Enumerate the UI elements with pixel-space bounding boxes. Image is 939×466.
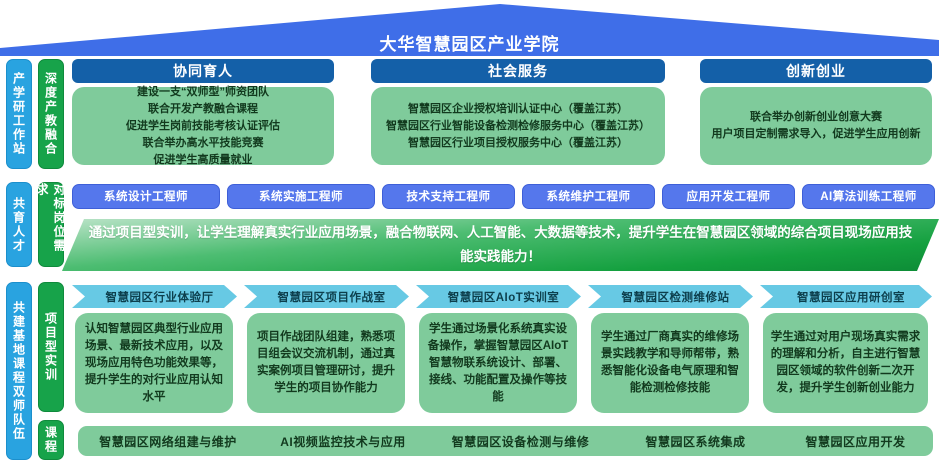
lab-header-5-label: 智慧园区应用研创室 — [797, 289, 905, 305]
pillar-1-line-3: 促进学生岗前技能考核认证评估 — [126, 118, 280, 135]
pillar-1-line-4: 联合举办高水平技能竞赛 — [143, 135, 264, 152]
lab-card-2: 项目作战团队组建，熟悉项目组会议交流机制，通过真实案例项目管理研讨，提升学生的项… — [247, 313, 405, 413]
job-role-chip-6[interactable]: AI算法训练工程师 — [802, 184, 935, 209]
pillar-2-line-3: 智慧园区行业项目授权服务中心（覆盖江苏） — [408, 135, 628, 152]
job-role-6-label: AI算法训练工程师 — [820, 191, 917, 203]
pillar-2-line-1: 智慧园区企业授权培训认证中心（覆盖江苏） — [408, 101, 628, 118]
lab-card-3-text: 学生通过场景化系统真实设备操作，掌握智慧园区AIoT智慧物联系统设计、部署、接线… — [426, 321, 570, 406]
pillar-2-line-2: 智慧园区行业智能设备检测检修服务中心（覆盖江苏） — [386, 118, 650, 135]
rail-outer-1[interactable]: 产学研工作站 — [6, 59, 32, 169]
roof-shape — [0, 4, 939, 56]
rail-inner-1-label: 深度产教融合 — [43, 72, 60, 156]
lab-card-5: 学生通过对用户现场真实需求的理解和分析，自主进行智慧园区领域的软件创新二次开发，… — [763, 313, 928, 413]
pillar-2-body: 智慧园区企业授权培训认证中心（覆盖江苏） 智慧园区行业智能设备检测检修服务中心（… — [371, 87, 665, 165]
lab-card-1-text: 认知智慧园区典型行业应用场景、最新技术应用，以及现场应用特色功能效果等，提升学生… — [82, 321, 226, 406]
pillar-1-body: 建设一支“双师型”师资团队 联合开发产教融合课程 促进学生岗前技能考核认证评估 … — [72, 87, 334, 165]
lab-card-2-text: 项目作战团队组建，熟悉项目组会议交流机制，通过真实案例项目管理研讨，提升学生的项… — [254, 329, 398, 397]
rail-outer-2[interactable]: 共育人才 — [6, 182, 32, 267]
pillar-1-line-1: 建设一支“双师型”师资团队 — [137, 84, 269, 101]
lab-header-1-label: 智慧园区行业体验厅 — [106, 289, 214, 305]
rail-outer-1-label: 产学研工作站 — [11, 72, 28, 156]
course-item-2[interactable]: AI视频监控技术与应用 — [258, 433, 428, 450]
rail-inner-4[interactable]: 课程 — [38, 420, 64, 460]
job-role-3-label: 技术支持工程师 — [407, 191, 491, 203]
job-role-5-label: 应用开发工程师 — [687, 191, 771, 203]
course-bar: 智慧园区网络组建与维护 AI视频监控技术与应用 智慧园区设备检测与维修 智慧园区… — [78, 426, 933, 456]
pillar-innovation-entrepreneurship[interactable]: 创新创业 联合举办创新创业创意大赛 用户项目定制需求导入，促进学生应用创新 — [700, 59, 932, 165]
rail-inner-3-label: 项目型实训 — [43, 312, 60, 382]
lab-header-3-label: 智慧园区AIoT实训室 — [448, 289, 560, 305]
rail-inner-3[interactable]: 项目型实训 — [38, 282, 64, 412]
lab-card-1: 认知智慧园区典型行业应用场景、最新技术应用，以及现场应用特色功能效果等，提升学生… — [75, 313, 233, 413]
rail-outer-3[interactable]: 共建基地课程双师队伍 — [6, 282, 32, 460]
lab-header-2[interactable]: 智慧园区项目作战室 — [244, 285, 409, 308]
pillar-1-title: 协同育人 — [72, 59, 334, 83]
pillar-3-body: 联合举办创新创业创意大赛 用户项目定制需求导入，促进学生应用创新 — [700, 87, 932, 165]
pillar-1-line-5: 促进学生高质量就业 — [154, 152, 253, 169]
lab-card-4-text: 学生通过厂商真实的维修场景实践教学和导师帮带，熟悉智能化设备电气原理和智能检测检… — [598, 329, 742, 397]
job-role-4-label: 系统维护工程师 — [547, 191, 631, 203]
pillar-3-line-2: 用户项目定制需求导入，促进学生应用创新 — [712, 126, 921, 143]
rail-outer-3-label: 共建基地课程双师队伍 — [11, 301, 28, 441]
training-summary-banner: 通过项目型实训，让学生理解真实行业应用场景，融合物联网、人工智能、大数据等技术，… — [62, 219, 939, 271]
pillar-2-title: 社会服务 — [371, 59, 665, 83]
lab-card-3: 学生通过场景化系统真实设备操作，掌握智慧园区AIoT智慧物联系统设计、部署、接线… — [419, 313, 577, 413]
rail-inner-1[interactable]: 深度产教融合 — [38, 59, 64, 169]
course-item-4[interactable]: 智慧园区系统集成 — [613, 433, 778, 450]
lab-card-4: 学生通过厂商真实的维修场景实践教学和导师帮带，熟悉智能化设备电气原理和智能检测检… — [591, 313, 749, 413]
infographic-root: 大华智慧园区产业学院 产学研工作站 共育人才 共建基地课程双师队伍 深度产教融合… — [0, 0, 939, 466]
course-item-5[interactable]: 智慧园区应用开发 — [778, 433, 933, 450]
rail-inner-2[interactable]: 对标岗位需求 — [38, 182, 64, 267]
job-role-chip-1[interactable]: 系统设计工程师 — [72, 184, 220, 209]
course-item-3[interactable]: 智慧园区设备检测与维修 — [428, 433, 613, 450]
roof-banner: 大华智慧园区产业学院 — [0, 4, 939, 56]
lab-card-5-text: 学生通过对用户现场真实需求的理解和分析，自主进行智慧园区领域的软件创新二次开发，… — [770, 329, 921, 397]
lab-header-4-label: 智慧园区检测维修站 — [622, 289, 730, 305]
pillar-3-title: 创新创业 — [700, 59, 932, 83]
lab-header-4[interactable]: 智慧园区检测维修站 — [588, 285, 753, 308]
lab-header-2-label: 智慧园区项目作战室 — [278, 289, 386, 305]
rail-outer-2-label: 共育人才 — [11, 197, 28, 253]
training-summary-text: 通过项目型实训，让学生理解真实行业应用场景，融合物联网、人工智能、大数据等技术，… — [62, 219, 939, 271]
lab-header-1[interactable]: 智慧园区行业体验厅 — [72, 285, 237, 308]
pillar-3-line-1: 联合举办创新创业创意大赛 — [750, 109, 882, 126]
job-role-chip-4[interactable]: 系统维护工程师 — [522, 184, 655, 209]
job-role-chip-5[interactable]: 应用开发工程师 — [662, 184, 795, 209]
job-role-chip-2[interactable]: 系统实施工程师 — [227, 184, 375, 209]
pillar-collaborative-education[interactable]: 协同育人 建设一支“双师型”师资团队 联合开发产教融合课程 促进学生岗前技能考核… — [72, 59, 334, 165]
lab-header-5[interactable]: 智慧园区应用研创室 — [760, 285, 932, 308]
rail-inner-4-label: 课程 — [43, 426, 60, 454]
pillar-social-service[interactable]: 社会服务 智慧园区企业授权培训认证中心（覆盖江苏） 智慧园区行业智能设备检测检修… — [371, 59, 665, 165]
pillar-1-line-2: 联合开发产教融合课程 — [148, 101, 258, 118]
job-role-1-label: 系统设计工程师 — [104, 191, 188, 203]
job-role-chip-3[interactable]: 技术支持工程师 — [382, 184, 515, 209]
lab-header-3[interactable]: 智慧园区AIoT实训室 — [416, 285, 581, 308]
course-item-1[interactable]: 智慧园区网络组建与维护 — [78, 433, 258, 450]
job-role-2-label: 系统实施工程师 — [259, 191, 343, 203]
